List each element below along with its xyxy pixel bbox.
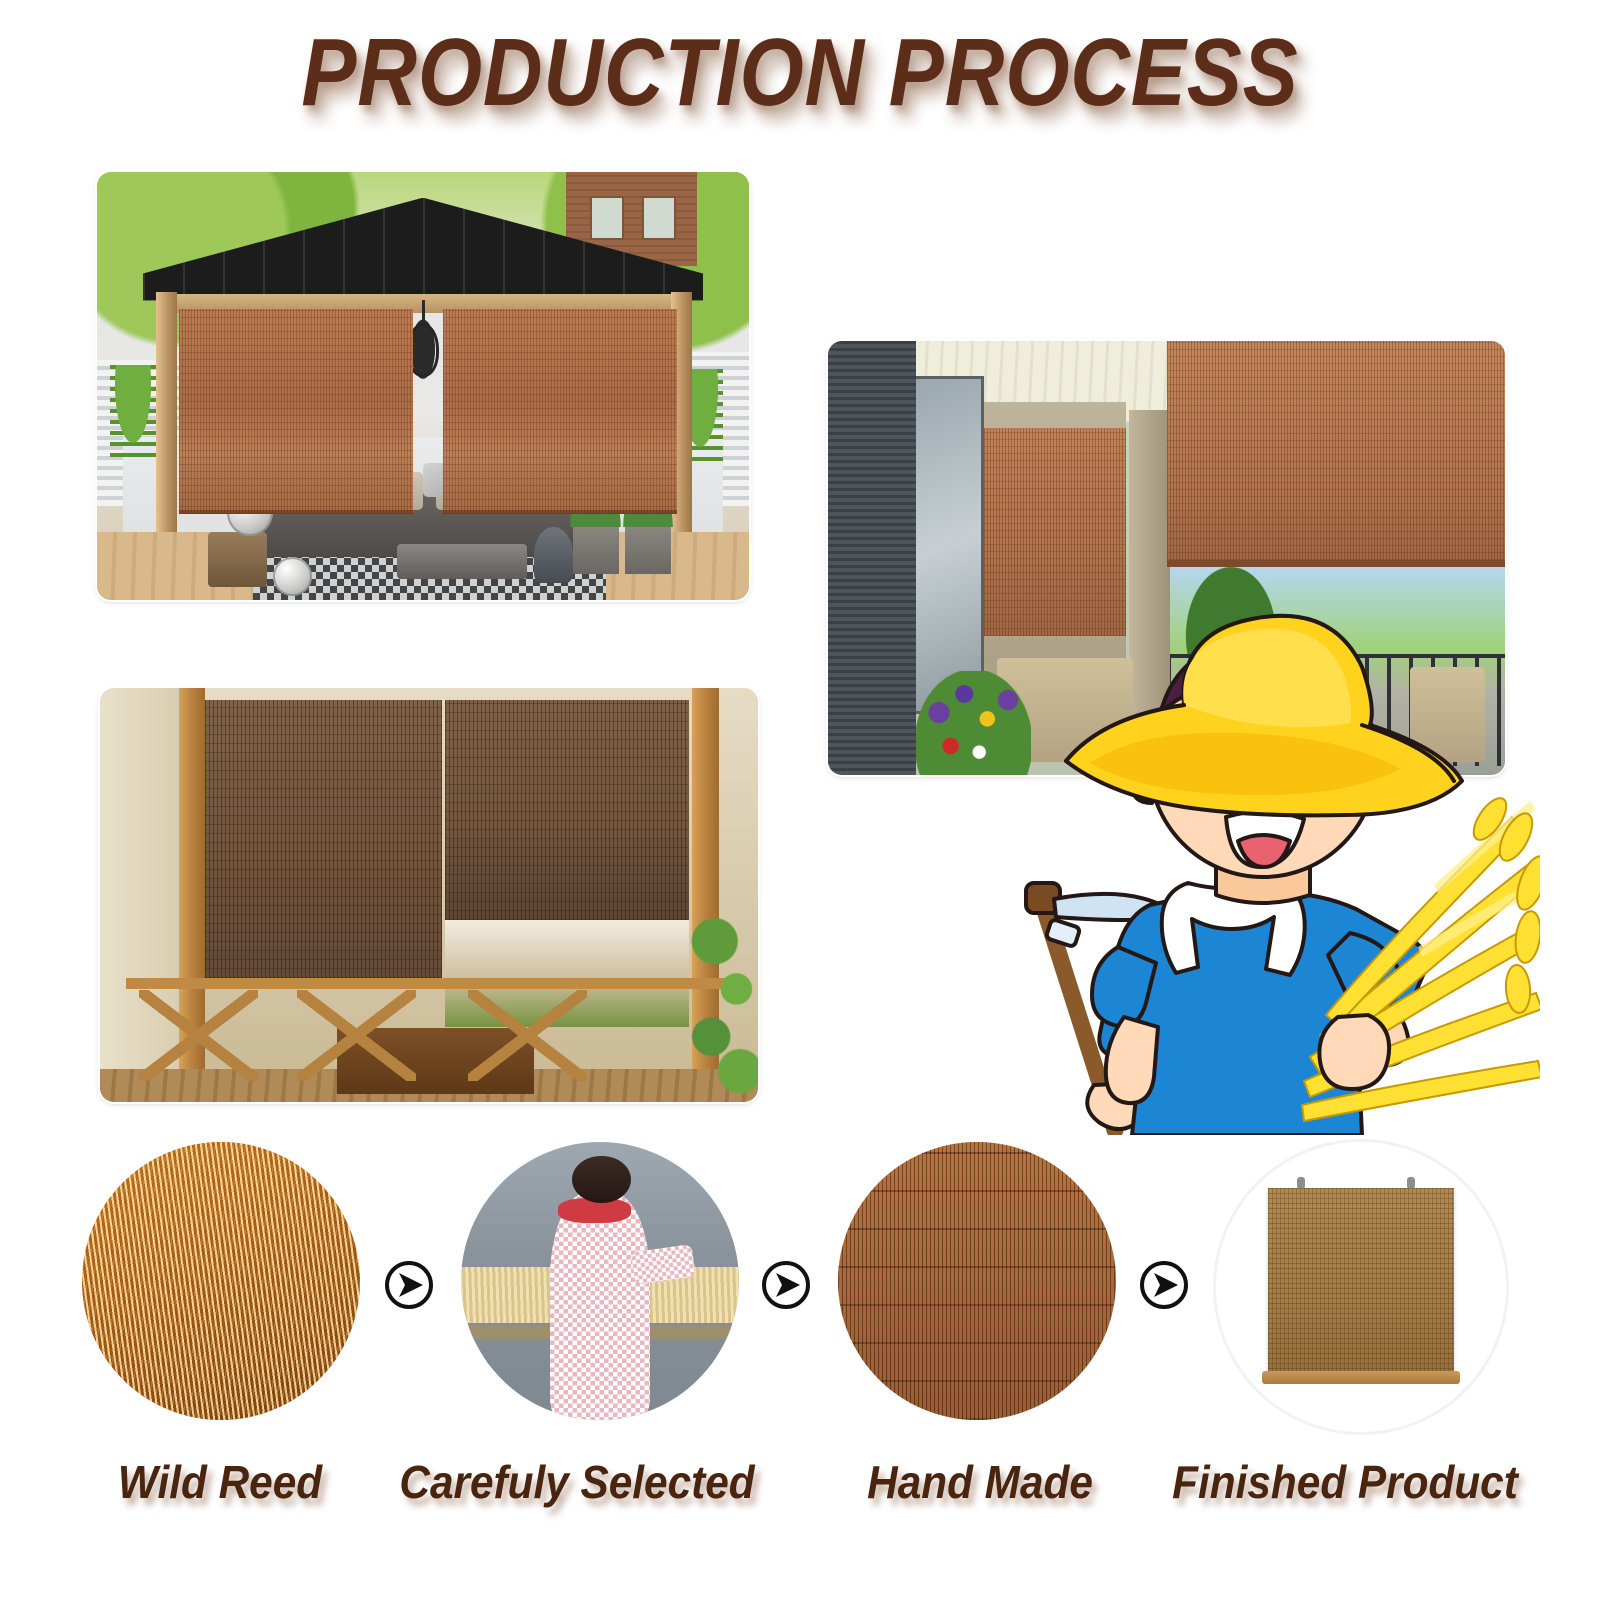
gazebo-reed-shades-photo xyxy=(97,172,749,600)
page-title: PRODUCTION PROCESS xyxy=(112,18,1488,128)
veranda-vine xyxy=(686,903,758,1093)
decor-sphere-bottom xyxy=(273,557,312,596)
step-label-finished-product: Finished Product xyxy=(1147,1455,1543,1509)
selecting-reed-photo xyxy=(461,1142,739,1420)
arrow-right-circle-icon xyxy=(383,1259,435,1311)
railing-brace-a xyxy=(139,990,257,1081)
buddha-statue xyxy=(534,527,573,583)
reed-blind-left xyxy=(205,700,442,977)
finished-reed-blind xyxy=(1216,1142,1506,1432)
railing-brace-c xyxy=(468,990,586,1081)
porch-window xyxy=(909,376,983,715)
flower-box xyxy=(916,671,1031,775)
railing-brace-b xyxy=(297,990,415,1081)
coffee-table xyxy=(397,544,527,578)
porch-shutter xyxy=(828,341,916,775)
veranda-reed-blinds-photo xyxy=(100,688,758,1102)
wild-reed-texture xyxy=(82,1142,360,1420)
reed-shade-left xyxy=(179,309,414,514)
tree-stump-table xyxy=(208,532,267,588)
infographic-canvas: PRODUCTION PROCESS xyxy=(0,0,1600,1601)
step-label-carefuly-selected: Carefuly Selected xyxy=(379,1455,775,1509)
arrow-right-circle-icon xyxy=(760,1259,812,1311)
step-label-hand-made: Hand Made xyxy=(842,1455,1118,1509)
arrow-right-circle-icon xyxy=(1138,1259,1190,1311)
farmer-boy-mascot xyxy=(1020,565,1540,1135)
hanging-vine-left xyxy=(110,365,156,459)
reed-shade-right xyxy=(443,309,678,514)
step-label-wild-reed: Wild Reed xyxy=(68,1455,372,1509)
reed-blind-right xyxy=(445,700,688,919)
woven-reed-mat xyxy=(838,1142,1116,1420)
reed-blind-large xyxy=(1167,341,1506,567)
